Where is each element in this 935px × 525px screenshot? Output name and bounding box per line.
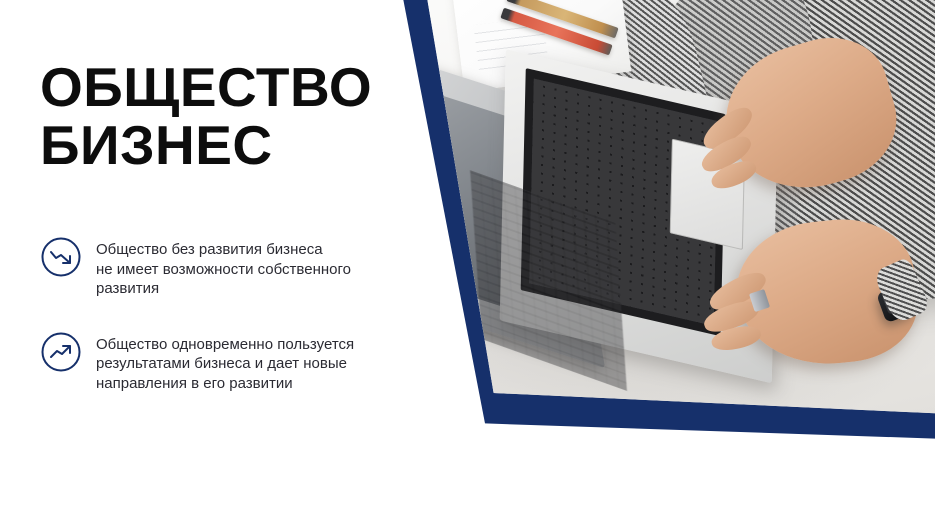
trend-up-circle-icon bbox=[40, 331, 82, 373]
trend-down-circle-icon bbox=[40, 236, 82, 278]
bullet-list: Общество без развития бизнеса не имеет в… bbox=[40, 236, 360, 425]
list-item-label: Общество одновременно пользуется результ… bbox=[96, 331, 354, 394]
finger-ring bbox=[750, 289, 771, 312]
list-item-label: Общество без развития бизнеса не имеет в… bbox=[96, 236, 351, 299]
page-title: ОБЩЕСТВО БИЗНЕС bbox=[40, 58, 372, 174]
list-item: Общество одновременно пользуется результ… bbox=[40, 331, 360, 394]
presentation-slide: ОБЩЕСТВО БИЗНЕС Общество без развития би… bbox=[0, 0, 935, 525]
list-item: Общество без развития бизнеса не имеет в… bbox=[40, 236, 360, 299]
